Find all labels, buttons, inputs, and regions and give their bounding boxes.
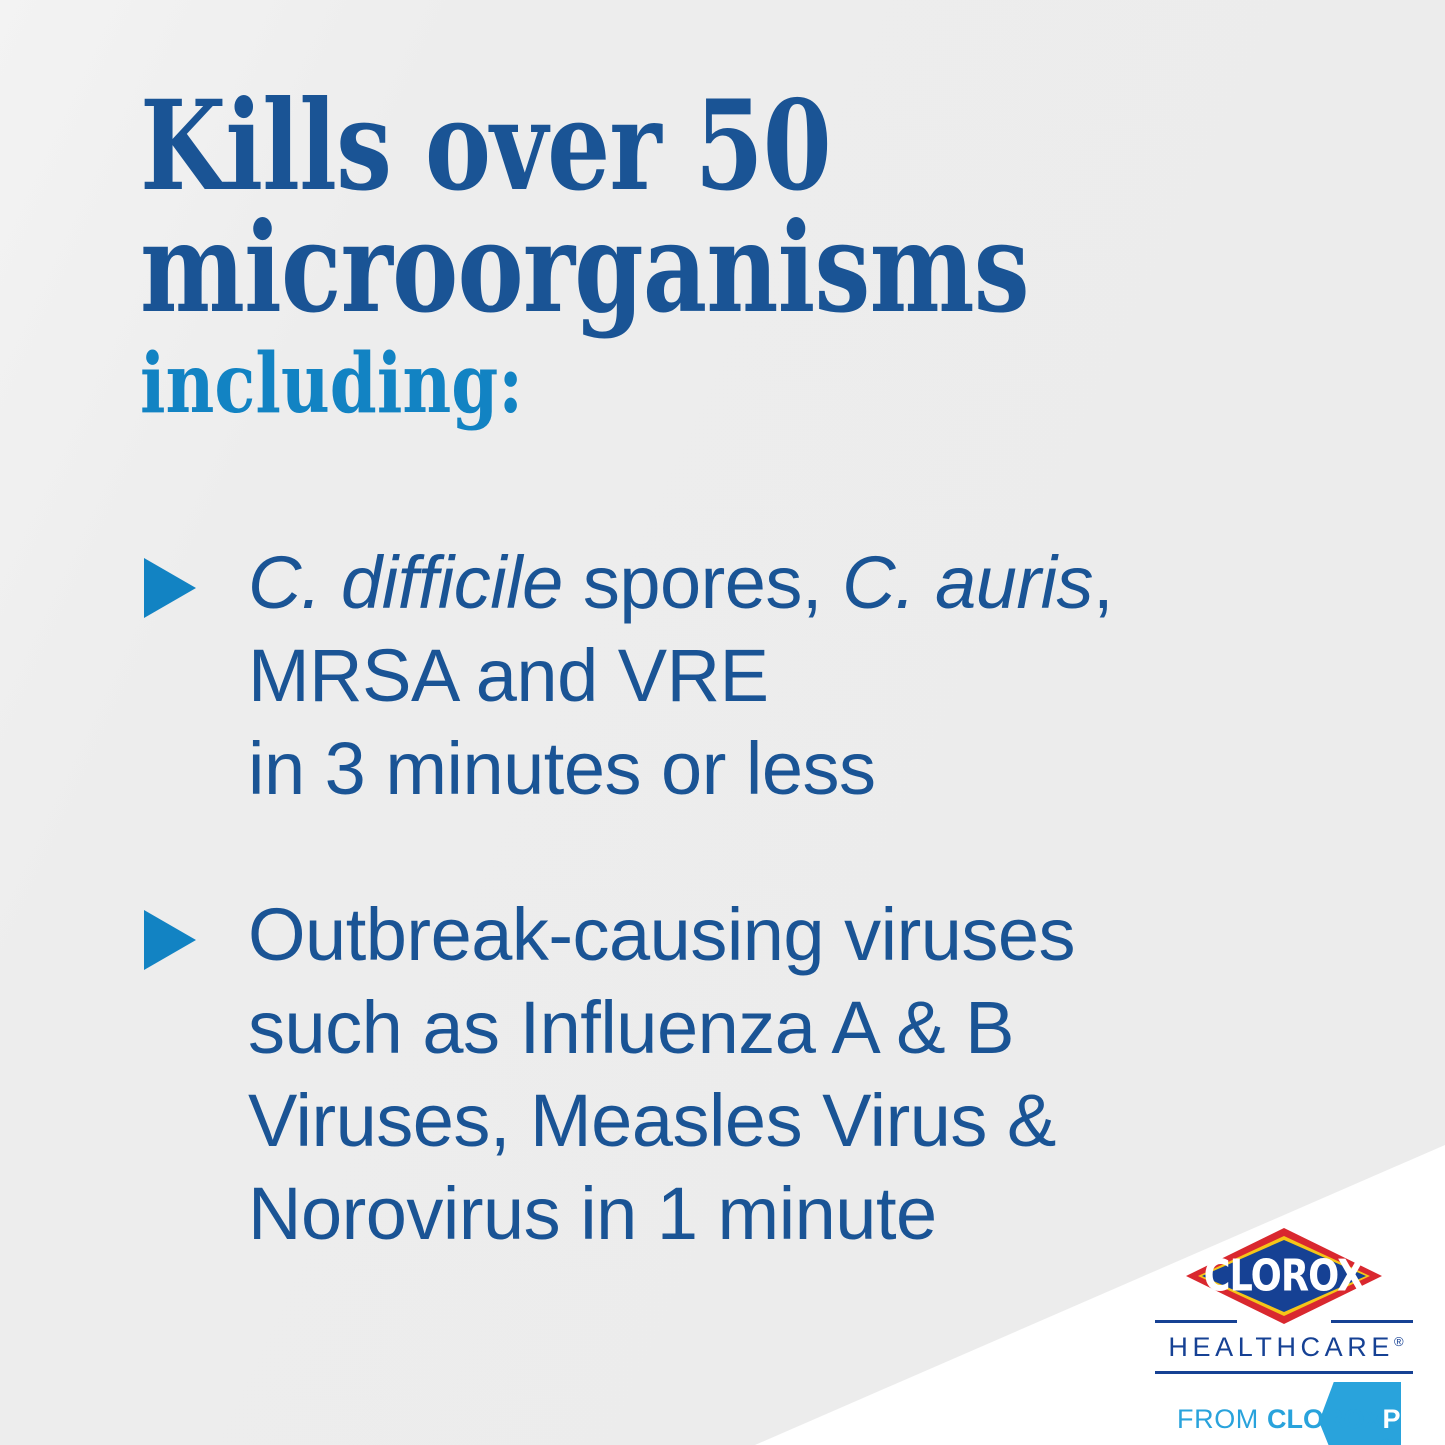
from-cloroxpro-text: FROM CLOROXPRO <box>1177 1404 1441 1435</box>
rule-above-healthcare <box>1155 1320 1413 1323</box>
list-item: C. difficile spores, C. auris, MRSA and … <box>140 536 1340 816</box>
claim-text: C. difficile spores, C. auris, MRSA and … <box>248 536 1340 816</box>
headline-block: Kills over 50 microorganisms including: <box>140 86 1260 425</box>
claim-text-run: Outbreak-causing viruses such as Influen… <box>248 893 1075 1256</box>
triangle-right-icon <box>144 910 196 970</box>
claims-list: C. difficile spores, C. auris, MRSA and … <box>140 536 1340 1261</box>
clorox-wordmark: CLOROX <box>1192 1222 1376 1330</box>
healthcare-lockup: HEALTHCARE® <box>1155 1320 1413 1374</box>
promo-graphic: Kills over 50 microorganisms including: … <box>0 0 1445 1445</box>
italic-organism-name: C. difficile <box>248 541 563 624</box>
registered-mark: ® <box>1394 1334 1404 1349</box>
headline-subline: including: <box>140 343 1058 425</box>
page-title: Kills over 50 microorganisms <box>140 86 1036 329</box>
list-item: Outbreak-causing viruses such as Influen… <box>140 888 1340 1261</box>
cloroxpro-registered-mark: ® <box>1380 1436 1391 1445</box>
from-prefix-label: FROM <box>1177 1404 1267 1434</box>
italic-organism-name: C. auris <box>842 541 1093 624</box>
rule-below-healthcare <box>1155 1371 1413 1374</box>
triangle-right-icon <box>144 558 196 618</box>
clorox-diamond-icon: CLOROX <box>1186 1228 1382 1324</box>
claim-text: Outbreak-causing viruses such as Influen… <box>248 888 1340 1261</box>
healthcare-wordmark: HEALTHCARE® <box>1155 1332 1413 1363</box>
cloroxpro-brand-label: CLOROX <box>1267 1404 1383 1434</box>
rule-segment-right <box>1331 1320 1413 1323</box>
healthcare-label: HEALTHCARE <box>1168 1332 1394 1362</box>
clorox-healthcare-logo: CLOROX HEALTHCARE® FROM CLOROXPRO ® <box>1155 1228 1413 1445</box>
cloroxpro-pro-label: PRO <box>1383 1404 1442 1434</box>
from-cloroxpro-lockup: FROM CLOROXPRO ® <box>1155 1390 1413 1445</box>
claim-text-run: spores, <box>563 541 842 624</box>
rule-segment-left <box>1155 1320 1237 1323</box>
